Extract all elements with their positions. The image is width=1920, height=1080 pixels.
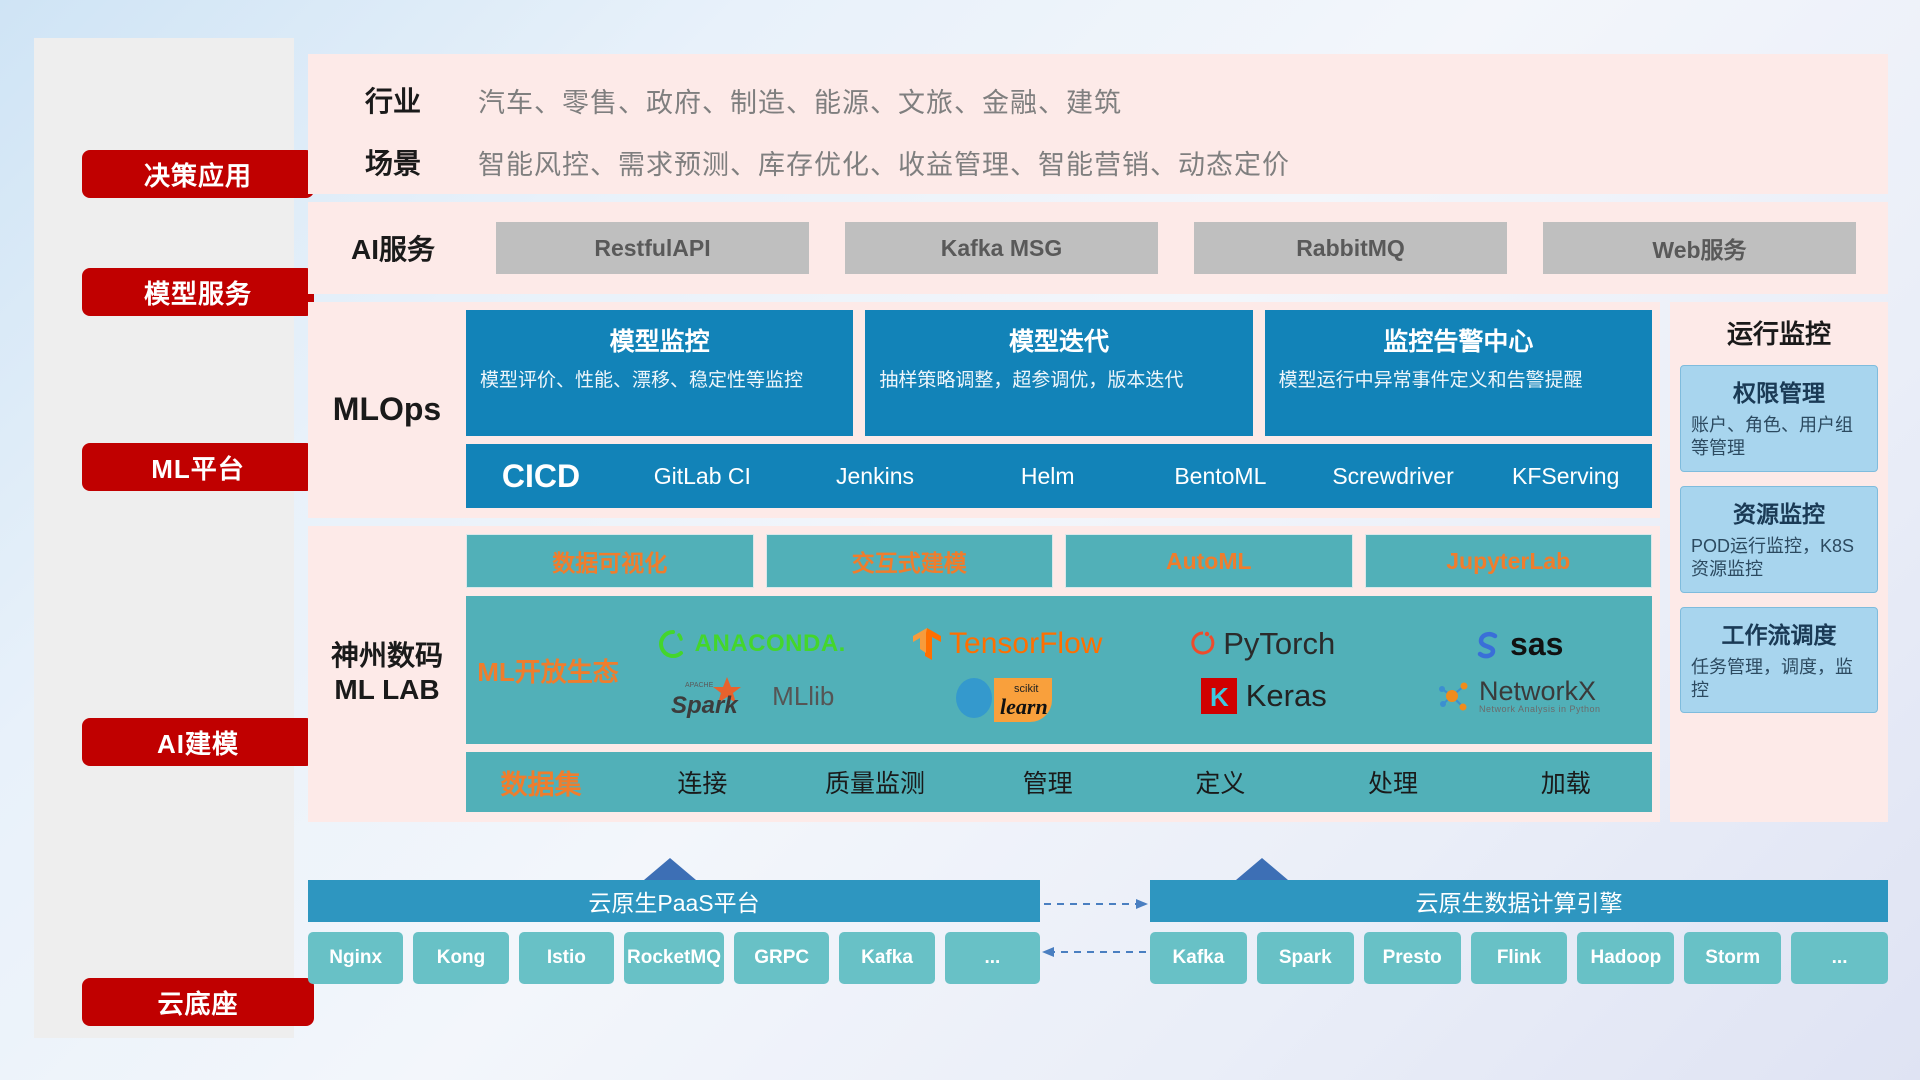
svg-text:K: K — [1210, 682, 1229, 712]
dataset-item-load[interactable]: 加载 — [1479, 764, 1652, 800]
stage-chip-ai-modeling[interactable]: AI建模 — [82, 718, 314, 766]
pytorch-mark-icon — [1190, 628, 1216, 660]
anaconda-mark-icon — [658, 629, 688, 659]
pytorch-logo: PyTorch — [1190, 626, 1335, 662]
paas-title: 云原生PaaS平台 — [308, 880, 1040, 922]
monitor-title: 运行监控 — [1680, 314, 1878, 351]
monitor-card-desc: 账户、角色、用户组等管理 — [1691, 414, 1867, 461]
cicd-bar: CICD GitLab CI Jenkins Helm BentoML Scre… — [466, 444, 1652, 508]
monitor-card-desc: 任务管理，调度，监控 — [1691, 656, 1867, 703]
modeling-body: 数据可视化 交互式建模 AutoML JupyterLab ML开放生态 — [466, 534, 1660, 812]
paas-chip-kafka[interactable]: Kafka — [839, 932, 934, 984]
tool-automl[interactable]: AutoML — [1065, 534, 1353, 588]
ai-service-band: AI服务 RestfulAPI Kafka MSG RabbitMQ Web服务 — [308, 202, 1888, 294]
paas-chip-rocketmq[interactable]: RocketMQ — [624, 932, 724, 984]
apache-spark-mark-icon: APACHE Spark — [669, 674, 765, 718]
sas-logo: sas — [1473, 626, 1563, 663]
card-title: 监控告警中心 — [1279, 322, 1638, 358]
paas-chip-grpc[interactable]: GRPC — [734, 932, 829, 984]
mlops-key: MLOps — [308, 310, 466, 508]
card-desc: 抽样策略调整，超参调优，版本迭代 — [879, 368, 1238, 393]
scikit-learn-logo: scikit learn — [952, 670, 1062, 722]
cicd-title: CICD — [466, 458, 616, 495]
paas-chip-row: Nginx Kong Istio RocketMQ GRPC Kafka ... — [308, 932, 1040, 984]
paas-column: 云原生PaaS平台 Nginx Kong Istio RocketMQ GRPC… — [308, 880, 1040, 984]
networkx-tagline: Network Analysis in Python — [1479, 705, 1601, 714]
tool-interactive-modeling[interactable]: 交互式建模 — [766, 534, 1054, 588]
mlops-card-model-iteration[interactable]: 模型迭代 抽样策略调整，超参调优，版本迭代 — [865, 310, 1252, 436]
stage-label: AI建模 — [157, 724, 239, 761]
tensorflow-wordmark: TensorFlow — [949, 627, 1102, 661]
anaconda-wordmark: ANACONDA. — [695, 630, 846, 658]
modeling-key-line2: ML LAB — [334, 673, 439, 707]
bidirectional-dashed-link-icon — [1040, 880, 1150, 990]
sas-mark-icon — [1473, 629, 1503, 659]
modeling-key-line1: 神州数码 — [331, 639, 443, 673]
paas-chip-istio[interactable]: Istio — [519, 932, 614, 984]
spark-mllib-logo: APACHE Spark MLlib — [669, 674, 834, 718]
industry-key: 行业 — [308, 80, 478, 120]
cicd-item-helm[interactable]: Helm — [961, 464, 1134, 488]
engine-chip-flink[interactable]: Flink — [1471, 932, 1568, 984]
main-stack: 行业 汽车、零售、政府、制造、能源、文旅、金融、建筑 场景 智能风控、需求预测、… — [308, 54, 1888, 822]
stage-chip-ml-platform[interactable]: ML平台 — [82, 443, 314, 491]
cicd-item-jenkins[interactable]: Jenkins — [789, 464, 962, 488]
card-title: 模型迭代 — [879, 322, 1238, 358]
mlops-band: MLOps 模型监控 模型评价、性能、漂移、稳定性等监控 模型迭代 抽样策略调整… — [308, 302, 1660, 518]
dataset-item-manage[interactable]: 管理 — [961, 764, 1134, 800]
dataset-title: 数据集 — [466, 763, 616, 802]
ai-service-item-web-service[interactable]: Web服务 — [1543, 222, 1856, 274]
modeling-key: 神州数码 ML LAB — [308, 534, 466, 812]
engine-chip-kafka[interactable]: Kafka — [1150, 932, 1247, 984]
pytorch-wordmark: PyTorch — [1223, 626, 1335, 662]
business-band: 行业 汽车、零售、政府、制造、能源、文旅、金融、建筑 场景 智能风控、需求预测、… — [308, 54, 1888, 194]
stage-chip-model-service[interactable]: 模型服务 — [82, 268, 314, 316]
stage-chip-cloud-base[interactable]: 云底座 — [82, 978, 314, 1026]
mlops-card-alert-center[interactable]: 监控告警中心 模型运行中异常事件定义和告警提醒 — [1265, 310, 1652, 436]
scikit-learn-mark-icon: scikit learn — [952, 670, 1062, 722]
svg-text:APACHE: APACHE — [685, 682, 714, 689]
cloud-link-gap — [1040, 880, 1150, 990]
stage-label: ML平台 — [151, 449, 245, 486]
stage-chip-decision[interactable]: 决策应用 — [82, 150, 314, 198]
networkx-mark-icon — [1436, 678, 1472, 714]
monitor-card-title: 资源监控 — [1691, 495, 1867, 529]
cicd-item-gitlab-ci[interactable]: GitLab CI — [616, 464, 789, 488]
engine-chip-storm[interactable]: Storm — [1684, 932, 1781, 984]
monitor-card-desc: POD运行监控，K8S资源监控 — [1691, 535, 1867, 582]
anaconda-logo: ANACONDA. — [658, 629, 846, 659]
scenario-key: 场景 — [308, 142, 478, 182]
paas-chip-more[interactable]: ... — [945, 932, 1040, 984]
cloud-bars: 云原生PaaS平台 Nginx Kong Istio RocketMQ GRPC… — [308, 880, 1888, 990]
card-title: 模型监控 — [480, 322, 839, 358]
monitor-card-workflow[interactable]: 工作流调度 任务管理，调度，监控 — [1680, 607, 1878, 714]
runtime-monitor-panel: 运行监控 权限管理 账户、角色、用户组等管理 资源监控 POD运行监控，K8S资… — [1670, 302, 1888, 822]
svg-text:Spark: Spark — [671, 692, 739, 718]
modeling-band: 神州数码 ML LAB 数据可视化 交互式建模 AutoML JupyterLa… — [308, 526, 1660, 822]
engine-chip-presto[interactable]: Presto — [1364, 932, 1461, 984]
dataset-item-quality[interactable]: 质量监测 — [789, 764, 962, 800]
card-desc: 模型评价、性能、漂移、稳定性等监控 — [480, 368, 839, 393]
monitor-card-resource[interactable]: 资源监控 POD运行监控，K8S资源监控 — [1680, 486, 1878, 593]
tool-jupyterlab[interactable]: JupyterLab — [1365, 534, 1653, 588]
engine-chip-row: Kafka Spark Presto Flink Hadoop Storm ..… — [1150, 932, 1888, 984]
dataset-item-define[interactable]: 定义 — [1134, 764, 1307, 800]
architecture-diagram: 决策应用 模型服务 ML平台 AI建模 云底座 行业 汽车、零售、政府、制造、能… — [0, 0, 1920, 1080]
monitor-card-permission[interactable]: 权限管理 账户、角色、用户组等管理 — [1680, 365, 1878, 472]
ml-ecosystem-label: ML开放生态 — [472, 652, 624, 689]
cicd-item-kfserving[interactable]: KFServing — [1479, 464, 1652, 488]
networkx-logo: NetworkX Network Analysis in Python — [1436, 678, 1601, 714]
mlops-body: 模型监控 模型评价、性能、漂移、稳定性等监控 模型迭代 抽样策略调整，超参调优，… — [466, 310, 1660, 508]
sas-wordmark: sas — [1510, 626, 1563, 663]
cicd-item-bentoml[interactable]: BentoML — [1134, 464, 1307, 488]
dataset-item-process[interactable]: 处理 — [1307, 764, 1480, 800]
ai-service-items: RestfulAPI Kafka MSG RabbitMQ Web服务 — [478, 222, 1888, 274]
platform-row: MLOps 模型监控 模型评价、性能、漂移、稳定性等监控 模型迭代 抽样策略调整… — [308, 302, 1888, 822]
card-desc: 模型运行中异常事件定义和告警提醒 — [1279, 368, 1638, 393]
ai-service-item-kafka-msg[interactable]: Kafka MSG — [845, 222, 1158, 274]
industry-value: 汽车、零售、政府、制造、能源、文旅、金融、建筑 — [478, 81, 1122, 120]
scenario-line: 场景 智能风控、需求预测、库存优化、收益管理、智能营销、动态定价 — [308, 138, 1888, 186]
mllib-wordmark: MLlib — [772, 681, 834, 712]
mlops-card-model-monitor[interactable]: 模型监控 模型评价、性能、漂移、稳定性等监控 — [466, 310, 853, 436]
paas-chip-kong[interactable]: Kong — [413, 932, 508, 984]
cicd-item-screwdriver[interactable]: Screwdriver — [1307, 464, 1480, 488]
ai-service-item-restfulapi[interactable]: RestfulAPI — [496, 222, 809, 274]
networkx-wordmark: NetworkX — [1479, 678, 1601, 705]
paas-chip-nginx[interactable]: Nginx — [308, 932, 403, 984]
cloud-base-section: 云原生PaaS平台 Nginx Kong Istio RocketMQ GRPC… — [308, 880, 1888, 990]
keras-logo: K Keras — [1199, 676, 1327, 716]
mlops-cards: 模型监控 模型评价、性能、漂移、稳定性等监控 模型迭代 抽样策略调整，超参调优，… — [466, 310, 1652, 436]
svg-text:learn: learn — [1000, 694, 1048, 719]
engine-column: 云原生数据计算引擎 Kafka Spark Presto Flink Hadoo… — [1150, 880, 1888, 984]
dataset-row: 数据集 连接 质量监测 管理 定义 处理 加载 — [466, 752, 1652, 812]
ml-ecosystem-logos: ANACONDA. TensorFlow — [624, 618, 1646, 722]
scenario-value: 智能风控、需求预测、库存优化、收益管理、智能营销、动态定价 — [478, 143, 1290, 182]
tensorflow-logo: TensorFlow — [912, 627, 1102, 661]
dataset-item-connect[interactable]: 连接 — [616, 764, 789, 800]
engine-chip-hadoop[interactable]: Hadoop — [1577, 932, 1674, 984]
stage-label: 云底座 — [157, 984, 238, 1021]
engine-chip-more[interactable]: ... — [1791, 932, 1888, 984]
industry-line: 行业 汽车、零售、政府、制造、能源、文旅、金融、建筑 — [308, 76, 1888, 124]
keras-wordmark: Keras — [1246, 678, 1327, 714]
stage-label: 决策应用 — [144, 156, 252, 193]
monitor-card-title: 权限管理 — [1691, 374, 1867, 408]
stage-rail: 决策应用 模型服务 ML平台 AI建模 云底座 — [34, 38, 294, 1038]
stage-label: 模型服务 — [144, 274, 252, 311]
tensorflow-mark-icon — [912, 627, 942, 661]
monitor-card-title: 工作流调度 — [1691, 616, 1867, 650]
ai-service-key: AI服务 — [308, 228, 478, 268]
keras-mark-icon: K — [1199, 676, 1239, 716]
tool-data-visualization[interactable]: 数据可视化 — [466, 534, 754, 588]
modeling-tools: 数据可视化 交互式建模 AutoML JupyterLab — [466, 534, 1652, 588]
engine-chip-spark[interactable]: Spark — [1257, 932, 1354, 984]
ai-service-item-rabbitmq[interactable]: RabbitMQ — [1194, 222, 1507, 274]
engine-title: 云原生数据计算引擎 — [1150, 880, 1888, 922]
ml-ecosystem-row: ML开放生态 ANACONDA. — [466, 596, 1652, 744]
